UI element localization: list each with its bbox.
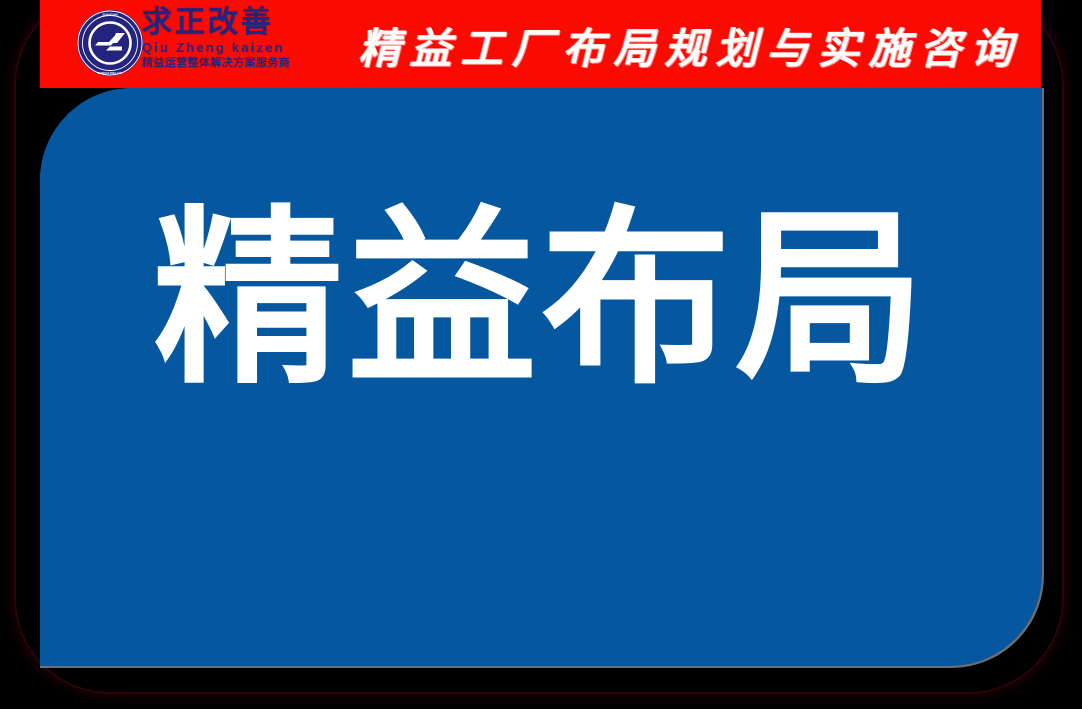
svg-text:CONSULTING CO.: CONSULTING CO. [98, 71, 123, 75]
logo-wordmark: 求正改善 Qiu Zheng kaizen 精益运营整体解决方案服务商 [142, 6, 318, 82]
content-panel: 精益布局 [40, 88, 1042, 666]
logo-tagline: 精益运营整体解决方案服务商 [142, 57, 318, 70]
logo-english-name: Qiu Zheng kaizen [142, 40, 318, 55]
slide-canvas: SHANGHAI CONSULTING CO. 求正改善 Qiu Zheng k… [0, 0, 1082, 709]
header-banner: SHANGHAI CONSULTING CO. 求正改善 Qiu Zheng k… [40, 0, 1041, 88]
qiu-zheng-kaizen-emblem-icon: SHANGHAI CONSULTING CO. [76, 9, 144, 77]
header-title: 精益工厂布局规划与实施咨询 [340, 14, 1040, 76]
company-logo[interactable]: SHANGHAI CONSULTING CO. 求正改善 Qiu Zheng k… [76, 4, 316, 84]
logo-chinese-name: 求正改善 [142, 6, 318, 40]
page-title: 精益布局 [40, 200, 1042, 400]
svg-text:SHANGHAI: SHANGHAI [102, 13, 118, 17]
